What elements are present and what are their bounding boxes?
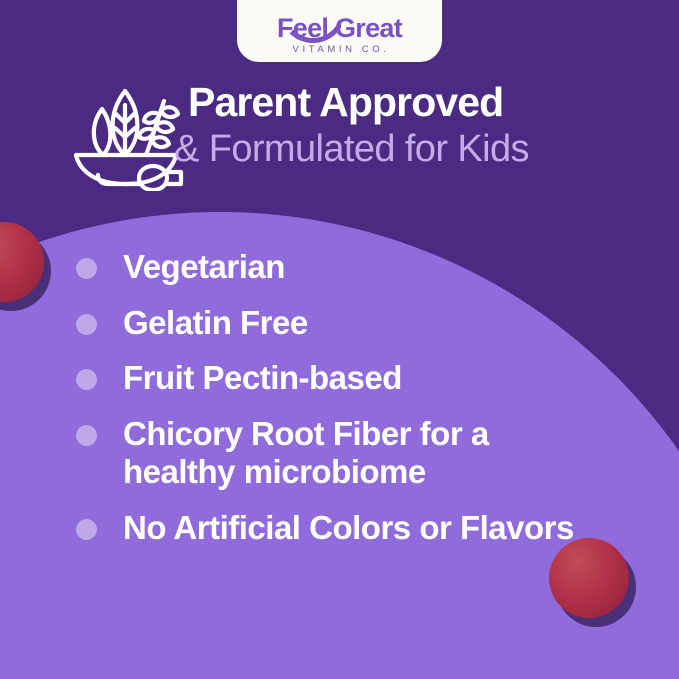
mortar-pestle-herbs-icon [68, 83, 184, 196]
headline-block: Parent Approved & Formulated for Kids [0, 78, 679, 198]
list-item-label: Fruit Pectin-based [123, 359, 402, 398]
bullet-dot-icon [76, 258, 97, 279]
list-item: Fruit Pectin-based [76, 359, 636, 398]
headline-primary: Parent Approved [188, 82, 503, 123]
bullet-dot-icon [76, 369, 97, 390]
bullet-dot-icon [76, 519, 97, 540]
headline-secondary: & Formulated for Kids [174, 130, 529, 168]
bullet-dot-icon [76, 314, 97, 335]
brand-wordmark: Feel Great [277, 15, 402, 42]
list-item-label: Gelatin Free [123, 304, 308, 343]
feature-list: Vegetarian Gelatin Free Fruit Pectin-bas… [76, 248, 636, 565]
gummy-candy-left [0, 222, 44, 302]
product-feature-card: Feel Great VITAMIN CO. [0, 0, 679, 679]
brand-logo-badge: Feel Great VITAMIN CO. [237, 0, 442, 62]
list-item-label: No Artificial Colors or Flavors [123, 509, 574, 548]
list-item-label: Vegetarian [123, 248, 285, 287]
list-item: Vegetarian [76, 248, 636, 287]
list-item: Gelatin Free [76, 304, 636, 343]
list-item: Chicory Root Fiber for a healthy microbi… [76, 415, 636, 492]
brand-tagline: VITAMIN CO. [290, 45, 390, 55]
list-item-label: Chicory Root Fiber for a healthy microbi… [123, 415, 583, 492]
list-item: No Artificial Colors or Flavors [76, 509, 636, 548]
bullet-dot-icon [76, 425, 97, 446]
